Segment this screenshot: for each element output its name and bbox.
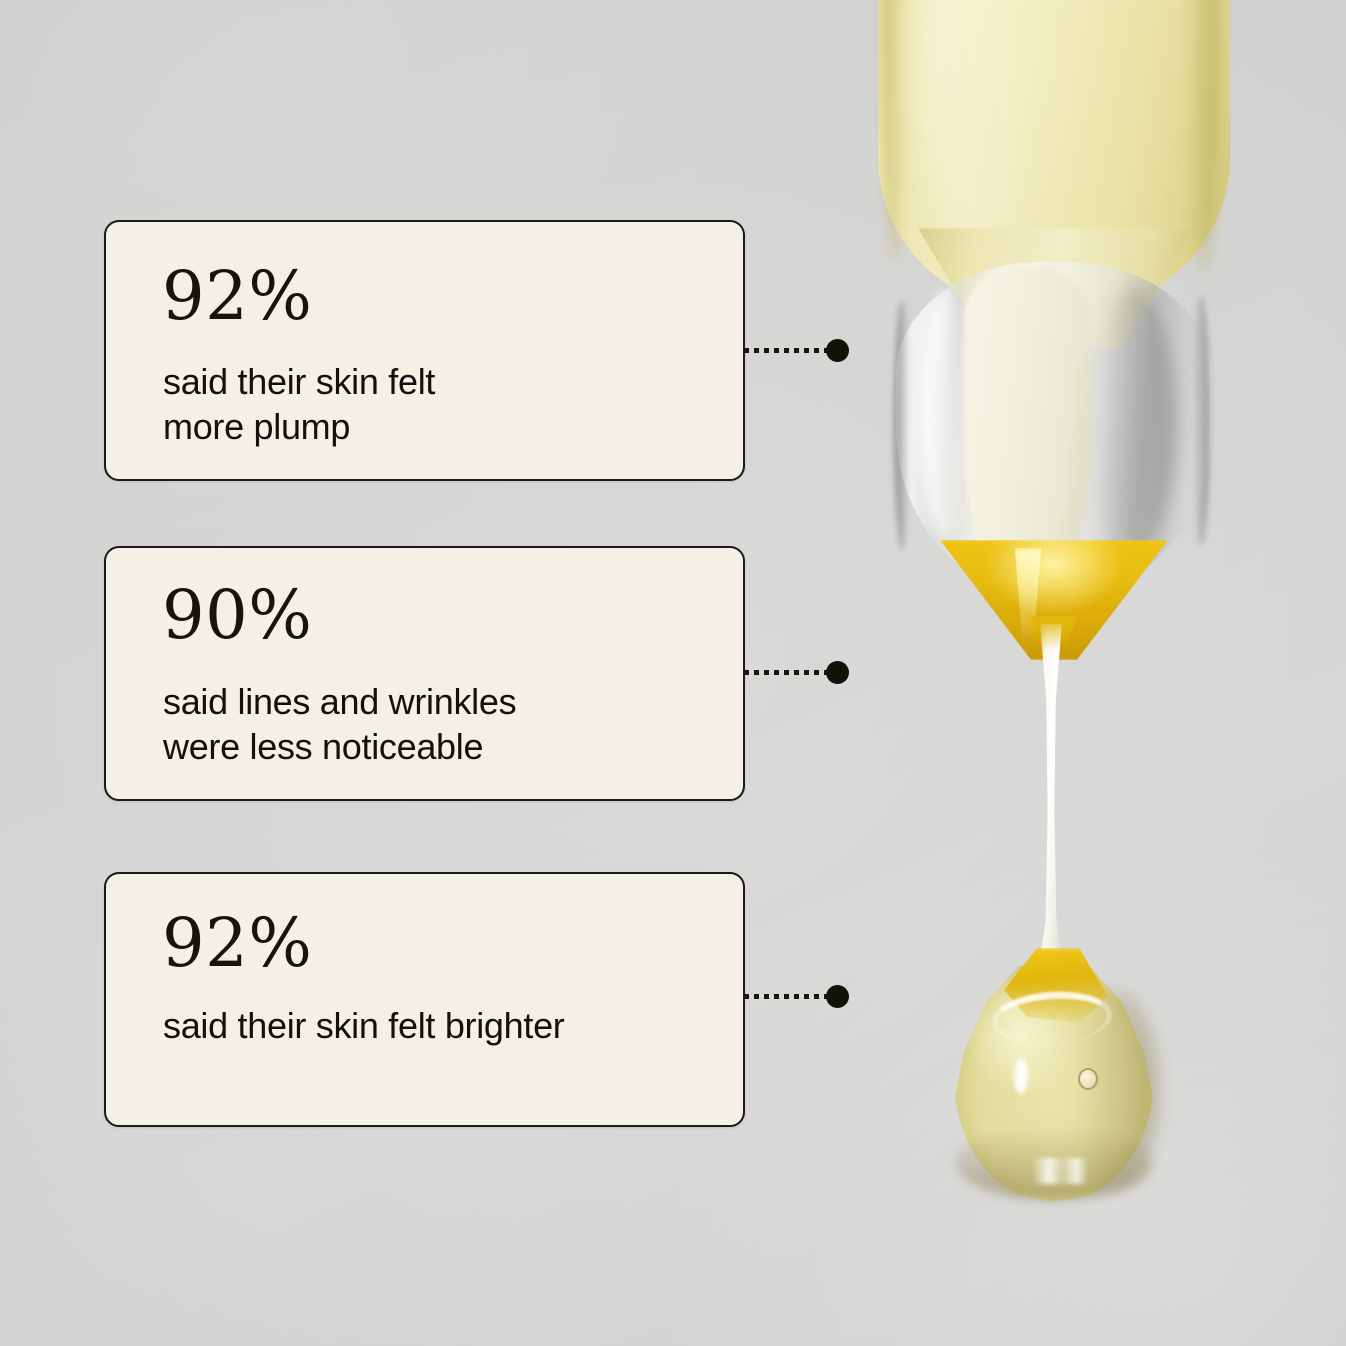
oil-stream-shape	[1034, 624, 1068, 969]
dotted-line-icon	[744, 670, 838, 675]
connector-end-dot-icon	[826, 339, 849, 362]
connector-end-dot-icon	[826, 661, 849, 684]
stat-card-plump: 92% said their skin feltmore plump	[104, 220, 745, 481]
glass-bulb-left-rim	[894, 300, 910, 550]
glass-bulb-core	[964, 266, 1090, 586]
stat-percent: 92%	[162, 263, 312, 330]
teardrop-air-bubble	[1078, 1068, 1098, 1090]
connector-line-2	[744, 661, 860, 683]
stat-percent: 92%	[162, 910, 312, 977]
connector-end-dot-icon	[826, 985, 849, 1008]
dotted-line-icon	[744, 994, 838, 999]
stat-description: said their skin feltmore plump	[163, 360, 713, 449]
glass-bulb-right-shadow	[1092, 288, 1176, 558]
teardrop-bottom-highlight	[1032, 1158, 1088, 1184]
glass-bulb-left-highlight	[922, 290, 966, 540]
glass-bulb-right-rim	[1192, 296, 1210, 546]
stat-description: said lines and wrinkleswere less noticea…	[163, 680, 713, 769]
dotted-line-icon	[744, 348, 838, 353]
oil-droplet-image	[856, 0, 1276, 1346]
teardrop-specular-highlight	[1014, 1058, 1028, 1094]
connector-line-1	[744, 339, 860, 361]
connector-line-3	[744, 985, 860, 1007]
stat-card-brighter: 92% said their skin felt brighter	[104, 872, 745, 1127]
stat-description: said their skin felt brighter	[163, 1004, 713, 1049]
stat-card-wrinkles: 90% said lines and wrinkleswere less not…	[104, 546, 745, 801]
stat-percent: 90%	[162, 582, 312, 649]
